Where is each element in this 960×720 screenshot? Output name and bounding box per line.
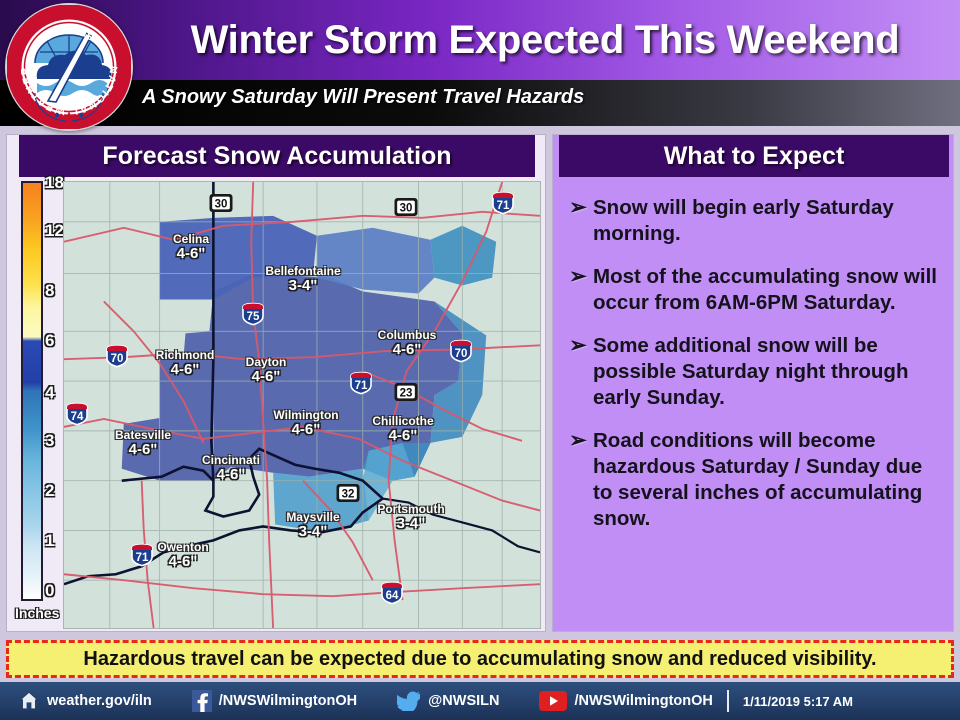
footer-twitter-label: @NWSILN <box>428 693 499 709</box>
expectation-text: Road conditions will become hazardous Sa… <box>593 428 937 532</box>
snow-colorbar: 18 12 8 6 4 3 2 1 0 Inches <box>15 181 59 631</box>
youtube-icon <box>539 691 567 711</box>
expectation-text: Some additional snow will be possible Sa… <box>593 333 937 411</box>
hazard-warning-banner: Hazardous travel can be expected due to … <box>6 640 954 678</box>
page-subtitle: A Snowy Saturday Will Present Travel Haz… <box>142 86 584 109</box>
map-body: 18 12 8 6 4 3 2 1 0 Inches <box>7 177 547 633</box>
footer-bar: weather.gov/iln /NWSWilmingtonOH @NWSILN <box>0 682 960 720</box>
footer-facebook-label: /NWSWilmingtonOH <box>219 693 357 709</box>
colorbar-tick-8: 8 <box>45 281 54 301</box>
colorbar-tick-18: 18 <box>45 173 64 193</box>
map-panel: Forecast Snow Accumulation 18 12 8 6 4 3… <box>6 134 546 632</box>
nws-logo: NATIONAL WEATHER SERVICE <box>5 3 133 131</box>
footer-website-label: weather.gov/iln <box>47 693 152 709</box>
footer-facebook[interactable]: /NWSWilmingtonOH <box>192 690 357 712</box>
bullet-arrow-icon: ➢ <box>563 428 593 453</box>
twitter-icon <box>397 691 421 711</box>
graphic-root: Winter Storm Expected This Weekend A Sno… <box>0 0 960 720</box>
footer-timestamp: 1/11/2019 5:17 AM <box>743 694 853 709</box>
colorbar-tick-1: 1 <box>45 531 54 551</box>
hazard-warning-text: Hazardous travel can be expected due to … <box>83 648 876 671</box>
footer-youtube-label: /NWSWilmingtonOH <box>574 693 712 709</box>
bullet-arrow-icon: ➢ <box>563 195 593 220</box>
expectation-item: ➢Most of the accumulating snow will occu… <box>563 264 937 316</box>
map-panel-title: Forecast Snow Accumulation <box>19 135 535 177</box>
footer-website[interactable]: weather.gov/iln <box>18 690 152 712</box>
colorbar-unit-label: Inches <box>15 605 59 621</box>
expectation-list: ➢Snow will begin early Saturday morning.… <box>561 183 947 625</box>
what-to-expect-panel: What to Expect ➢Snow will begin early Sa… <box>552 134 954 632</box>
colorbar-tick-4: 4 <box>45 383 54 403</box>
expectation-item: ➢Snow will begin early Saturday morning. <box>563 195 937 247</box>
footer-twitter[interactable]: @NWSILN <box>397 691 499 711</box>
info-panel-title: What to Expect <box>559 135 949 177</box>
colorbar-tick-12: 12 <box>45 221 64 241</box>
header-banner: Winter Storm Expected This Weekend <box>0 0 960 80</box>
facebook-icon <box>192 690 212 712</box>
home-icon <box>18 690 40 712</box>
bullet-arrow-icon: ➢ <box>563 333 593 358</box>
footer-youtube[interactable]: /NWSWilmingtonOH <box>539 691 712 711</box>
colorbar-tick-6: 6 <box>45 331 54 351</box>
expectation-text: Snow will begin early Saturday morning. <box>593 195 937 247</box>
page-title: Winter Storm Expected This Weekend <box>140 8 950 72</box>
colorbar-tick-0: 0 <box>45 581 54 601</box>
snow-forecast-map[interactable] <box>63 181 541 629</box>
expectation-item: ➢Road conditions will become hazardous S… <box>563 428 937 532</box>
expectation-text: Most of the accumulating snow will occur… <box>593 264 937 316</box>
colorbar-gradient <box>21 181 43 601</box>
expectation-item: ➢Some additional snow will be possible S… <box>563 333 937 411</box>
bullet-arrow-icon: ➢ <box>563 264 593 289</box>
footer-divider <box>727 690 729 712</box>
colorbar-tick-3: 3 <box>45 431 54 451</box>
colorbar-tick-2: 2 <box>45 481 54 501</box>
